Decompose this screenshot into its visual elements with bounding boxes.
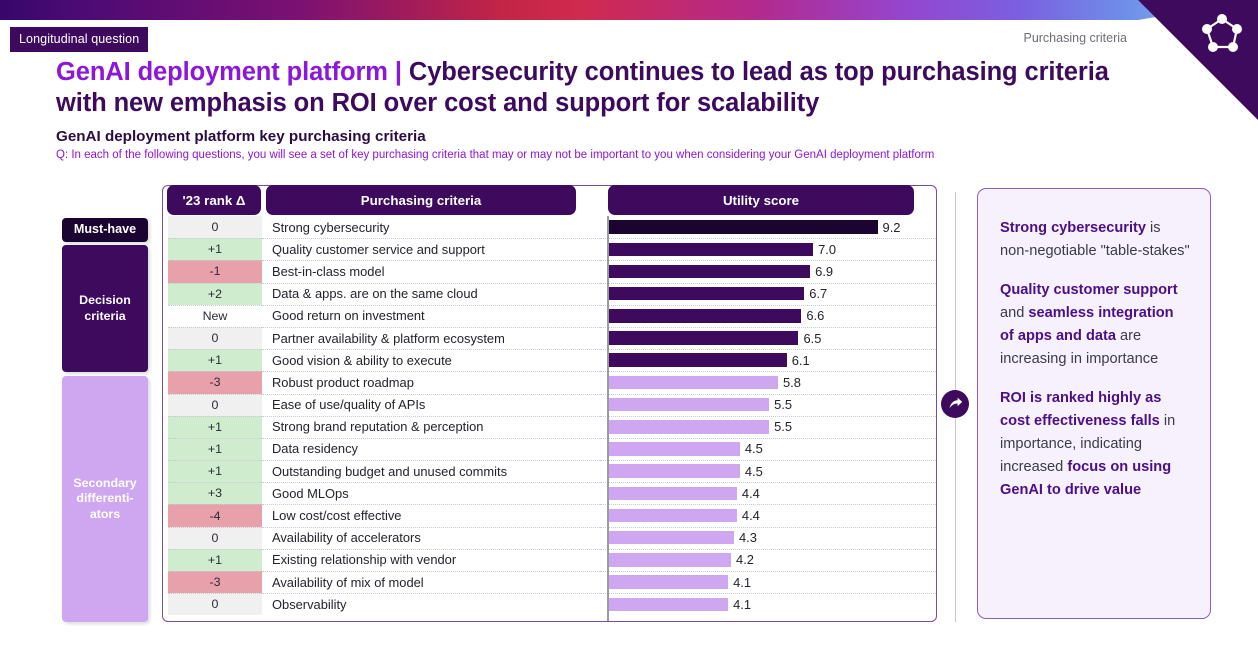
criteria-label-cell: Availability of accelerators xyxy=(262,527,600,549)
rank-delta-cell: +3 xyxy=(168,482,262,504)
table-row[interactable]: -1Best-in-class model6.9 xyxy=(163,260,936,282)
table-row[interactable]: +3Good MLOps4.4 xyxy=(163,482,936,504)
utility-score-bar xyxy=(608,420,769,434)
criteria-label-cell: Good MLOps xyxy=(262,482,600,504)
criteria-table-body: 0Strong cybersecurity9.2+1Quality custom… xyxy=(163,216,936,615)
criteria-label-cell: Partner availability & platform ecosyste… xyxy=(262,327,600,349)
table-row[interactable]: -3Availability of mix of model4.1 xyxy=(163,571,936,593)
utility-score-value: 6.9 xyxy=(815,264,833,279)
utility-score-bar xyxy=(608,553,731,567)
utility-score-cell: 4.5 xyxy=(600,460,936,482)
utility-score-value: 6.6 xyxy=(806,308,824,323)
rank-delta-cell: +1 xyxy=(168,438,262,460)
rank-delta-cell: 0 xyxy=(168,216,262,238)
band-secondary-differentiators: Secondarydifferenti-ators xyxy=(62,376,148,622)
utility-score-value: 7.0 xyxy=(818,242,836,257)
utility-score-cell: 6.1 xyxy=(600,349,936,371)
table-row[interactable]: +1Data residency4.5 xyxy=(163,438,936,460)
callout-highlight: Strong cybersecurity xyxy=(1000,220,1146,236)
utility-score-cell: 5.5 xyxy=(600,394,936,416)
callout-highlight: ROI is ranked highly as cost effectivene… xyxy=(1000,390,1161,429)
callout-paragraph: Quality customer support and seamless in… xyxy=(1000,279,1190,371)
utility-score-value: 4.1 xyxy=(733,597,751,612)
utility-score-value: 4.2 xyxy=(736,552,754,567)
rank-delta-cell: 0 xyxy=(168,327,262,349)
utility-score-bar xyxy=(608,487,737,501)
rank-delta-cell: -1 xyxy=(168,260,262,282)
utility-score-cell: 6.6 xyxy=(600,305,936,327)
utility-score-cell: 4.2 xyxy=(600,549,936,571)
table-row[interactable]: 0Strong cybersecurity9.2 xyxy=(163,216,936,238)
utility-score-value: 6.5 xyxy=(803,331,821,346)
utility-score-bar xyxy=(608,442,740,456)
utility-score-cell: 4.5 xyxy=(600,438,936,460)
table-row[interactable]: NewGood return on investment6.6 xyxy=(163,305,936,327)
rank-delta-cell: +1 xyxy=(168,349,262,371)
top-gradient-bar xyxy=(0,0,1258,20)
utility-score-bar xyxy=(608,220,878,234)
utility-score-value: 4.3 xyxy=(739,530,757,545)
criteria-table-card: 0Strong cybersecurity9.2+1Quality custom… xyxy=(162,185,937,622)
chart-axis-line xyxy=(607,216,609,622)
rank-delta-cell: -3 xyxy=(168,371,262,393)
utility-score-bar xyxy=(608,243,813,257)
rank-delta-cell: +1 xyxy=(168,238,262,260)
utility-score-value: 5.5 xyxy=(774,419,792,434)
criteria-label-cell: Low cost/cost effective xyxy=(262,504,600,526)
utility-score-value: 4.1 xyxy=(733,575,751,590)
criteria-label-cell: Best-in-class model xyxy=(262,260,600,282)
curved-arrow-right-icon[interactable] xyxy=(941,390,969,418)
utility-score-bar xyxy=(608,331,798,345)
utility-score-bar xyxy=(608,376,778,390)
rank-delta-cell: +2 xyxy=(168,283,262,305)
table-row[interactable]: +2Data & apps. are on the same cloud6.7 xyxy=(163,283,936,305)
column-header-criteria[interactable]: Purchasing criteria xyxy=(266,185,576,215)
band-decision-criteria: Decision criteria xyxy=(62,245,148,372)
utility-score-bar xyxy=(608,309,801,323)
utility-score-bar xyxy=(608,531,734,545)
utility-score-bar xyxy=(608,509,737,523)
utility-score-value: 4.5 xyxy=(745,464,763,479)
rank-delta-cell: 0 xyxy=(168,593,262,615)
utility-score-cell: 4.1 xyxy=(600,593,936,615)
column-header-score[interactable]: Utility score xyxy=(608,185,914,215)
utility-score-value: 4.4 xyxy=(742,508,760,523)
table-row[interactable]: 0Availability of accelerators4.3 xyxy=(163,527,936,549)
rank-delta-cell: -3 xyxy=(168,571,262,593)
criteria-label-cell: Good return on investment xyxy=(262,305,600,327)
criteria-label-cell: Strong cybersecurity xyxy=(262,216,600,238)
band-label: Secondarydifferenti-ators xyxy=(73,476,136,523)
criteria-label-cell: Availability of mix of model xyxy=(262,571,600,593)
rank-delta-cell: 0 xyxy=(168,527,262,549)
utility-score-bar xyxy=(608,287,804,301)
page-subtitle: GenAI deployment platform key purchasing… xyxy=(56,128,426,145)
band-label: Decision criteria xyxy=(62,293,148,324)
utility-score-value: 5.5 xyxy=(774,397,792,412)
survey-question: Q: In each of the following questions, y… xyxy=(56,149,934,161)
longitudinal-question-badge: Longitudinal question xyxy=(10,27,148,52)
criteria-label-cell: Existing relationship with vendor xyxy=(262,549,600,571)
utility-score-bar xyxy=(608,353,787,367)
criteria-label-cell: Observability xyxy=(262,593,600,615)
column-header-rank[interactable]: '23 rank Δ xyxy=(167,185,261,215)
rank-delta-cell: +1 xyxy=(168,460,262,482)
utility-score-cell: 6.9 xyxy=(600,260,936,282)
criteria-label-cell: Quality customer service and support xyxy=(262,238,600,260)
utility-score-bar xyxy=(608,464,740,478)
utility-score-value: 6.7 xyxy=(809,286,827,301)
network-hexagon-logo xyxy=(1200,12,1244,56)
utility-score-cell: 6.7 xyxy=(600,283,936,305)
page-title-accent: GenAI deployment platform | xyxy=(56,58,409,86)
utility-score-cell: 4.3 xyxy=(600,527,936,549)
slide-root: Longitudinal question Purchasing criteri… xyxy=(0,0,1258,650)
table-row[interactable]: -4Low cost/cost effective4.4 xyxy=(163,504,936,526)
utility-score-bar xyxy=(608,265,810,279)
page-title: GenAI deployment platform | Cybersecurit… xyxy=(56,57,1166,119)
utility-score-value: 6.1 xyxy=(792,353,810,368)
utility-score-cell: 4.1 xyxy=(600,571,936,593)
rank-delta-cell: 0 xyxy=(168,394,262,416)
rank-delta-cell: -4 xyxy=(168,504,262,526)
rank-delta-cell: New xyxy=(168,305,262,327)
criteria-label-cell: Strong brand reputation & perception xyxy=(262,416,600,438)
criteria-label-cell: Robust product roadmap xyxy=(262,371,600,393)
utility-score-cell: 7.0 xyxy=(600,238,936,260)
criteria-label-cell: Ease of use/quality of APIs xyxy=(262,394,600,416)
table-row[interactable]: +1Strong brand reputation & perception5.… xyxy=(163,416,936,438)
utility-score-cell: 6.5 xyxy=(600,327,936,349)
utility-score-bar xyxy=(608,598,728,612)
utility-score-cell: 5.8 xyxy=(600,371,936,393)
band-label: Must-have xyxy=(74,222,136,238)
criteria-label-cell: Good vision & ability to execute xyxy=(262,349,600,371)
callout-text: and xyxy=(1000,305,1028,321)
utility-score-cell: 9.2 xyxy=(600,216,936,238)
table-row[interactable]: 0Ease of use/quality of APIs5.5 xyxy=(163,394,936,416)
utility-score-bar xyxy=(608,575,728,589)
criteria-label-cell: Data residency xyxy=(262,438,600,460)
utility-score-cell: 4.4 xyxy=(600,482,936,504)
utility-score-value: 5.8 xyxy=(783,375,801,390)
rank-delta-cell: +1 xyxy=(168,549,262,571)
utility-score-cell: 5.5 xyxy=(600,416,936,438)
criteria-label-cell: Data & apps. are on the same cloud xyxy=(262,283,600,305)
callout-paragraph: Strong cybersecurity is non-negotiable "… xyxy=(1000,217,1190,263)
table-row[interactable]: 0Observability4.1 xyxy=(163,593,936,615)
table-row[interactable]: +1Good vision & ability to execute6.1 xyxy=(163,349,936,371)
utility-score-value: 4.5 xyxy=(745,441,763,456)
rank-delta-cell: +1 xyxy=(168,416,262,438)
callout-paragraph: ROI is ranked highly as cost effectivene… xyxy=(1000,387,1190,502)
callout-highlight: Quality customer support xyxy=(1000,282,1178,298)
criteria-label-cell: Outstanding budget and unused commits xyxy=(262,460,600,482)
utility-score-bar xyxy=(608,398,769,412)
utility-score-cell: 4.4 xyxy=(600,504,936,526)
table-row[interactable]: +1Existing relationship with vendor4.2 xyxy=(163,549,936,571)
corner-section-label: Purchasing criteria xyxy=(1023,31,1127,45)
table-row[interactable]: -3Robust product roadmap5.8 xyxy=(163,371,936,393)
band-must-have: Must-have xyxy=(62,218,148,242)
utility-score-value: 9.2 xyxy=(883,220,901,235)
insights-callout: Strong cybersecurity is non-negotiable "… xyxy=(977,188,1211,619)
utility-score-value: 4.4 xyxy=(742,486,760,501)
table-row[interactable]: 0Partner availability & platform ecosyst… xyxy=(163,327,936,349)
table-row[interactable]: +1Outstanding budget and unused commits4… xyxy=(163,460,936,482)
table-row[interactable]: +1Quality customer service and support7.… xyxy=(163,238,936,260)
